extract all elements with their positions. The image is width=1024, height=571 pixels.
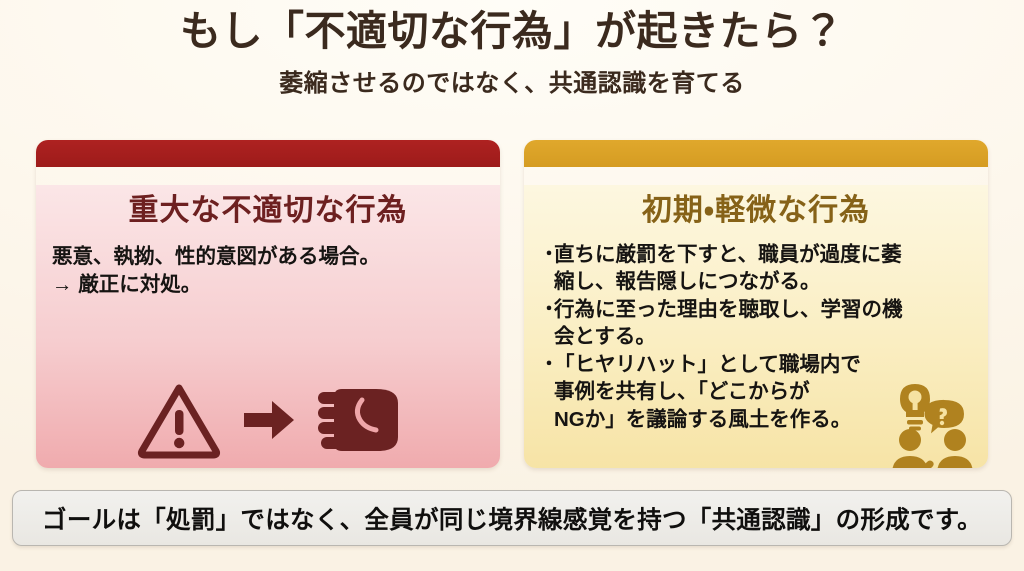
card-left-heading: 重大な不適切な行為 <box>52 185 484 229</box>
bullet-text: 直ちに厳罰を下すと、職員が過度に萎 縮し、報告隠しにつながる。 <box>554 241 972 296</box>
list-item: ・ 行為に至った理由を聴取し、学習の機 会とする。 <box>540 296 972 351</box>
card-right-body: 初期・軽微な行為 ・ 直ちに厳罰を下すと、職員が過度に萎 縮し、報告隠しにつなが… <box>524 185 988 468</box>
bullet-text: 行為に至った理由を聴取し、学習の機 会とする。 <box>554 296 972 351</box>
bullet-1-line-2: 縮し、報告隠しにつながる。 <box>554 268 972 295</box>
bullet-2-line-2: 会とする。 <box>554 323 972 350</box>
card-left-text: 悪意、執拗、性的意図がある場合。 → 厳正に対処。 <box>52 243 484 298</box>
card-severe-misconduct: 重大な不適切な行為 悪意、執拗、性的意図がある場合。 → 厳正に対処。 <box>36 140 500 468</box>
warning-triangle-icon <box>136 381 222 464</box>
slide-canvas: もし「不適切な行為」が起きたら？ 萎縮させるのではなく、共通認識を育てる 重大な… <box>0 0 1024 571</box>
summary-banner-text: ゴールは「処罰」ではなく、全員が同じ境界線感覚を持つ「共通認識」の形成です。 <box>42 501 982 536</box>
bullet-marker: ・ <box>540 241 554 268</box>
page-subtitle: 萎縮させるのではなく、共通認識を育てる <box>0 63 1024 98</box>
card-right-heading: 初期・軽微な行為 <box>540 185 972 229</box>
card-left-text-line-1: 悪意、執拗、性的意図がある場合。 <box>52 243 484 271</box>
right-arrow-icon <box>242 396 296 449</box>
card-left-title-bar <box>36 140 500 167</box>
page-title: もし「不適切な行為」が起きたら？ <box>0 8 1024 55</box>
question-bubble-icon <box>925 400 965 434</box>
card-left-text-line-2: → 厳正に対処。 <box>52 271 484 299</box>
slide-header: もし「不適切な行為」が起きたら？ 萎縮させるのではなく、共通認識を育てる <box>0 8 1024 98</box>
summary-banner: ゴールは「処罰」ではなく、全員が同じ境界線感覚を持つ「共通認識」の形成です。 <box>12 490 1012 546</box>
card-right-title-bar <box>524 140 988 167</box>
bullet-marker: ・ <box>540 296 554 323</box>
card-minor-misconduct: 初期・軽微な行為 ・ 直ちに厳罰を下すと、職員が過度に萎 縮し、報告隠しにつなが… <box>524 140 988 468</box>
bullet-3-line-1: 「ヒヤリハット」として職場内で <box>554 351 972 378</box>
fist-icon <box>316 384 400 461</box>
list-item: ・ 直ちに厳罰を下すと、職員が過度に萎 縮し、報告隠しにつながる。 <box>540 241 972 296</box>
bullet-1-line-1: 直ちに厳罰を下すと、職員が過度に萎 <box>554 241 972 268</box>
bullet-2-line-1: 行為に至った理由を聴取し、学習の機 <box>554 296 972 323</box>
bullet-marker: ・ <box>540 351 554 378</box>
card-left-icon-row <box>36 381 500 464</box>
two-people-discussion-icon <box>882 378 978 468</box>
card-left-body: 重大な不適切な行為 悪意、執拗、性的意図がある場合。 → 厳正に対処。 <box>36 185 500 468</box>
lightbulb-icon <box>900 384 930 431</box>
